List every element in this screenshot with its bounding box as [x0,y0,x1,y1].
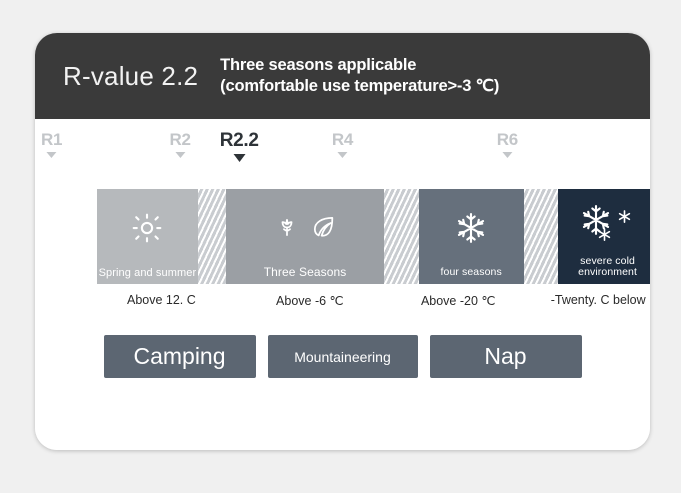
card-body: R1R2R2.2R4R6 Spring and summerThree Seas… [35,131,650,450]
band-segment-content: four seasons [419,189,524,284]
header-description-line-2: (comfortable use temperature>-3 ℃) [220,76,499,97]
r-value-band-bar: Spring and summerThree Seasonsfour seaso… [97,189,650,284]
header-description: Three seasons applicable (comfortable us… [220,55,499,97]
down-triangle-marker-icon [337,152,347,158]
band-transition-stripes-transition_1 [198,189,226,284]
down-triangle-marker-icon [175,152,185,158]
card-header: R-value 2.2 Three seasons applicable (co… [35,33,650,119]
down-triangle-marker-icon [47,152,57,158]
r-scale-tick-label: R2.2 [220,131,259,150]
down-triangle-marker-icon [233,154,245,162]
band-segment-icons [419,189,524,267]
temperature-label: Above -20 ℃ [421,293,496,308]
band-segment-four_seasons[interactable]: four seasons [419,189,524,284]
temperature-label: Above 12. C [127,293,196,307]
r-scale-tick-r2[interactable]: R2 [170,131,191,158]
r-scale-tick-r2-2[interactable]: R2.2 [220,131,259,162]
nap-button[interactable]: Nap [430,335,582,378]
band-segment-label: Spring and summer [99,267,197,279]
usage-button-row: CampingMountaineeringNap [35,335,650,378]
band-transition-stripes-transition_2 [384,189,419,284]
band-segment-spring_summer[interactable]: Spring and summer [97,189,198,284]
band-segment-label: Three Seasons [264,266,347,279]
band-segment-three_seasons[interactable]: Three Seasons [226,189,384,284]
band-segment-label: four seasons [440,267,501,279]
camping-button[interactable]: Camping [104,335,256,378]
snowflake-cluster [577,201,639,243]
snowflake-small-icon [617,209,632,224]
r-scale-tick-label: R6 [497,131,518,148]
temperature-label-row: Above 12. CAbove -6 ℃Above -20 ℃-Twenty.… [97,293,650,317]
r-value-title: R-value 2.2 [63,61,198,92]
band-segment-icons [226,189,384,266]
r-scale-tick-label: R1 [41,131,62,148]
r-scale-tick-row: R1R2R2.2R4R6 [35,131,650,177]
header-description-line-1: Three seasons applicable [220,55,499,76]
band-segment-icons [558,189,650,256]
band-segment-content: severe coldenvironment [558,189,650,284]
r-scale-tick-r1[interactable]: R1 [41,131,62,158]
band-segment-content: Spring and summer [97,189,198,284]
r-scale-tick-r4[interactable]: R4 [332,131,353,158]
snowflake-icon [454,211,488,245]
r-scale-tick-r6[interactable]: R6 [497,131,518,158]
temperature-label: -Twenty. C below [551,293,646,307]
tulip-icon [273,213,301,241]
r-scale-tick-label: R2 [170,131,191,148]
r-scale-tick-label: R4 [332,131,353,148]
band-segment-severe_cold[interactable]: severe coldenvironment [558,189,650,284]
snowflake-small-icon [597,227,612,242]
band-segment-label: severe coldenvironment [578,256,637,280]
down-triangle-marker-icon [502,152,512,158]
temperature-label: Above -6 ℃ [276,293,344,308]
leaf-icon [309,213,337,241]
mountaineering-button[interactable]: Mountaineering [268,335,418,378]
band-transition-stripes-transition_3 [524,189,559,284]
r-value-info-card: R-value 2.2 Three seasons applicable (co… [35,33,650,450]
band-segment-content: Three Seasons [226,189,384,284]
band-segment-icons [97,189,198,267]
sun-icon [130,211,164,245]
